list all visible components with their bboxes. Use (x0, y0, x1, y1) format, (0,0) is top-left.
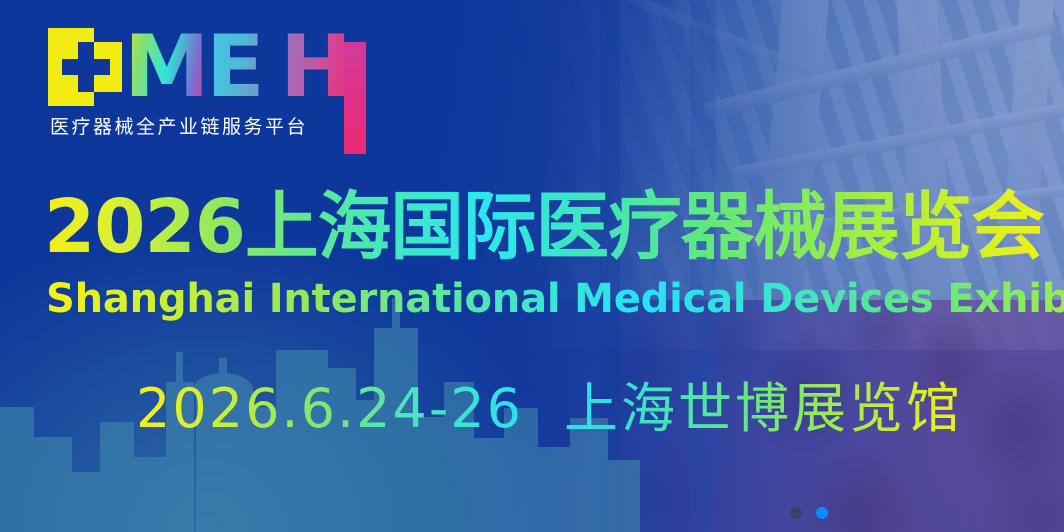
logo-letter-m: M (124, 28, 208, 106)
event-banner: M E H 医疗器械全产业链服务平台 2026上海国际医疗器械展览会 Shang… (0, 0, 1064, 532)
logo-c-notch-bottom (94, 92, 122, 106)
event-venue: 上海世博展览馆 (564, 378, 963, 440)
logo-letter-e: E (206, 28, 263, 106)
medical-cross-icon (62, 59, 110, 75)
logo-letter-c (48, 28, 122, 106)
logo-letters: M E H (48, 28, 348, 106)
carousel-indicators[interactable] (790, 507, 828, 519)
event-title-chinese: 2026上海国际医疗器械展览会 (44, 186, 1044, 268)
carousel-dot-1[interactable] (790, 507, 802, 519)
event-title-english: Shanghai International Medical Devices E… (46, 276, 1064, 322)
logo-c-notch-top (94, 28, 122, 42)
logo-tagline: 医疗器械全产业链服务平台 (50, 112, 308, 139)
logo-letter-h: H (280, 28, 350, 106)
cmeh-logo[interactable]: M E H 医疗器械全产业链服务平台 (48, 28, 348, 140)
event-date: 2026.6.24-26 (136, 378, 523, 440)
carousel-dot-2[interactable] (816, 507, 828, 519)
